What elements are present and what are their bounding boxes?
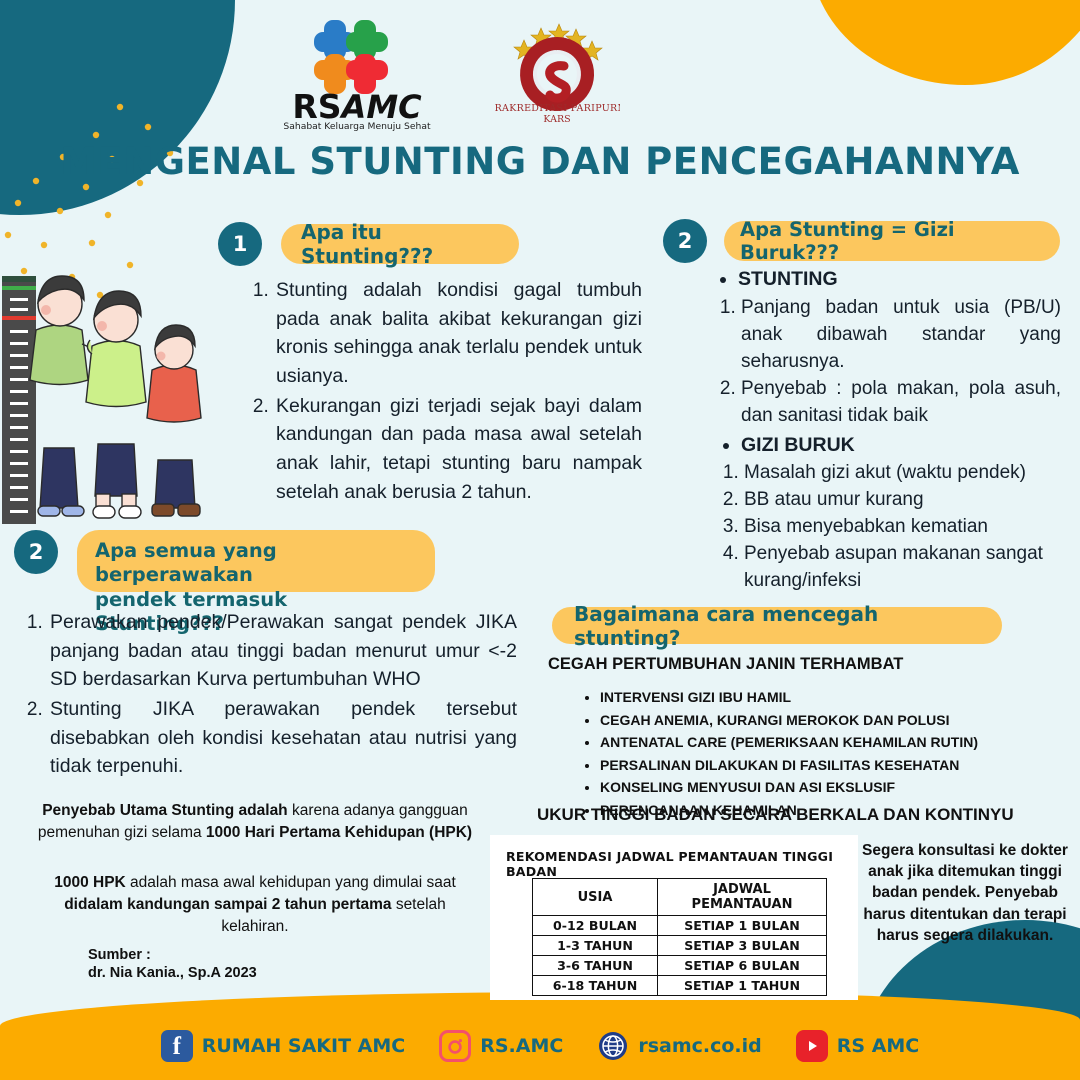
- list-item: BB atau umur kurang: [744, 487, 1061, 514]
- social-label: rsamc.co.id: [638, 1035, 761, 1057]
- list-item: Penyebab asupan makanan sangat kurang/in…: [744, 541, 1061, 595]
- column-header-usia: USIA: [533, 879, 658, 916]
- prevention-subheading: CEGAH PERTUMBUHAN JANIN TERHAMBAT: [548, 655, 903, 674]
- social-label: RUMAH SAKIT AMC: [202, 1035, 406, 1057]
- cell-jadwal: SETIAP 3 BULAN: [658, 936, 827, 956]
- table-row: 0-12 BULAN SETIAP 1 BULAN: [533, 916, 827, 936]
- group-title-stunting: STUNTING: [738, 266, 1061, 294]
- infographic-poster: RSAMC Sahabat Keluarga Menuju Sehat TERA…: [0, 0, 1080, 1080]
- cell-jadwal: SETIAP 6 BULAN: [658, 956, 827, 976]
- cell-jadwal: SETIAP 1 BULAN: [658, 916, 827, 936]
- cell-usia: 0-12 BULAN: [533, 916, 658, 936]
- list-item: Bisa menyebabkan kematian: [744, 514, 1061, 541]
- section-3-number: 2: [14, 530, 58, 574]
- schedule-table-title: REKOMENDASI JADWAL PEMANTAUAN TINGGI BAD…: [506, 849, 858, 879]
- schedule-table: USIA JADWAL PEMANTAUAN 0-12 BULAN SETIAP…: [532, 878, 827, 996]
- section-3-heading: Apa semua yang berperawakan pendek terma…: [77, 530, 435, 592]
- cell-usia: 3-6 TAHUN: [533, 956, 658, 976]
- section-2-heading: Apa Stunting = Gizi Buruk???: [724, 221, 1060, 261]
- social-youtube[interactable]: RS AMC: [796, 1030, 920, 1062]
- facebook-icon[interactable]: f: [161, 1030, 193, 1062]
- section-1-content: Stunting adalah kondisi gagal tumbuh pad…: [248, 276, 642, 507]
- list-item: Masalah gizi akut (waktu pendek): [744, 460, 1061, 487]
- note-1000-hpk: 1000 HPK adalah masa awal kehidupan yang…: [32, 872, 478, 938]
- section-3-heading-line1: Apa semua yang berperawakan: [95, 539, 417, 588]
- globe-icon[interactable]: [597, 1030, 629, 1062]
- social-label: RS.AMC: [480, 1035, 563, 1057]
- list-item: KONSELING MENYUSUI DAN ASI EKSLUSIF: [600, 780, 1070, 794]
- list-item: Stunting JIKA perawakan pendek tersebut …: [48, 695, 517, 781]
- consult-note: Segera konsultasi ke dokter anak jika di…: [852, 840, 1078, 946]
- table-row: 3-6 TAHUN SETIAP 6 BULAN: [533, 956, 827, 976]
- page-title: MENGENAL STUNTING DAN PENCEGAHANNYA: [0, 140, 1080, 183]
- list-item: Stunting adalah kondisi gagal tumbuh pad…: [274, 276, 642, 391]
- section-3-content: Perawakan pendek/Perawakan sangat pendek…: [22, 608, 517, 782]
- prevention-footer-line: UKUR TINGGI BADAN SECARA BERKALA DAN KON…: [537, 805, 1014, 825]
- social-instagram[interactable]: RS.AMC: [439, 1030, 563, 1062]
- list-item: Perawakan pendek/Perawakan sangat pendek…: [48, 608, 517, 694]
- section-2-number: 2: [663, 219, 707, 263]
- list-item: INTERVENSI GIZI IBU HAMIL: [600, 690, 1070, 704]
- svg-text:KARS: KARS: [543, 114, 570, 125]
- note-main-cause: Penyebab Utama Stunting adalah karena ad…: [32, 800, 478, 844]
- cell-usia: 1-3 TAHUN: [533, 936, 658, 956]
- social-website[interactable]: rsamc.co.id: [597, 1030, 761, 1062]
- table-row: 1-3 TAHUN SETIAP 3 BULAN: [533, 936, 827, 956]
- list-item: Kekurangan gizi terjadi sejak bayi dalam…: [274, 392, 642, 507]
- youtube-icon[interactable]: [796, 1030, 828, 1062]
- list-item: ANTENATAL CARE (PEMERIKSAAN KEHAMILAN RU…: [600, 735, 1070, 749]
- logo-tagline: Sahabat Keluarga Menuju Sehat: [283, 121, 431, 132]
- children-height-illustration: [0, 258, 230, 526]
- prevention-heading: Bagaimana cara mencegah stunting?: [552, 607, 1002, 644]
- group-title-gizi-buruk: GIZI BURUK: [741, 432, 1061, 460]
- footer-social-bar: f RUMAH SAKIT AMC RS.AMC: [0, 1026, 1080, 1066]
- table-row: 6-18 TAHUN SETIAP 1 TAHUN: [533, 976, 827, 996]
- cell-usia: 6-18 TAHUN: [533, 976, 658, 996]
- list-item: Panjang badan untuk usia (PB/U) anak dib…: [741, 295, 1061, 376]
- cell-jadwal: SETIAP 1 TAHUN: [658, 976, 827, 996]
- social-facebook[interactable]: f RUMAH SAKIT AMC: [161, 1030, 406, 1062]
- schedule-table-card: REKOMENDASI JADWAL PEMANTAUAN TINGGI BAD…: [490, 835, 858, 1000]
- section-1-number: 1: [218, 222, 262, 266]
- list-item: PERSALINAN DILAKUKAN DI FASILITAS KESEHA…: [600, 758, 1070, 772]
- rsamc-logo: RSAMC Sahabat Keluarga Menuju Sehat: [262, 14, 452, 132]
- list-item: CEGAH ANEMIA, KURANGI MEROKOK DAN POLUSI: [600, 713, 1070, 727]
- list-item: Penyebab : pola makan, pola asuh, dan sa…: [741, 376, 1061, 430]
- column-header-jadwal: JADWAL PEMANTAUAN: [658, 879, 827, 916]
- section-1-heading: Apa itu Stunting???: [281, 224, 519, 264]
- logo-row: RSAMC Sahabat Keluarga Menuju Sehat TERA…: [0, 6, 1080, 131]
- instagram-icon[interactable]: [439, 1030, 471, 1062]
- social-label: RS AMC: [837, 1035, 920, 1057]
- source-label: Sumber :: [88, 946, 257, 964]
- source-credit: Sumber : dr. Nia Kania., Sp.A 2023: [88, 946, 257, 982]
- section-2-content: STUNTING Panjang badan untuk usia (PB/U)…: [716, 266, 1061, 595]
- table-header-row: USIA JADWAL PEMANTAUAN: [533, 879, 827, 916]
- svg-text:TERAKREDITASI PARIPURNA: TERAKREDITASI PARIPURNA: [494, 103, 620, 114]
- source-value: dr. Nia Kania., Sp.A 2023: [88, 964, 257, 982]
- kars-accreditation-logo: TERAKREDITASI PARIPURNA KARS: [494, 18, 620, 130]
